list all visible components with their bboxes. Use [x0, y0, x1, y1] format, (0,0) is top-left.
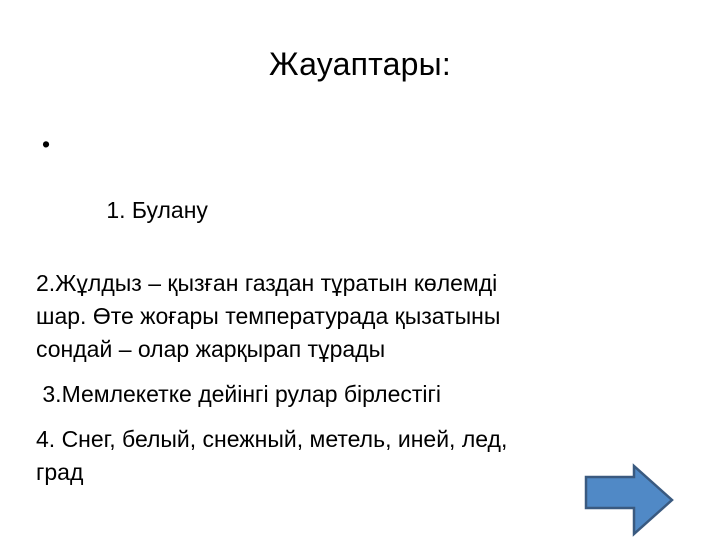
slide-canvas: Жауаптары: • 1. Булану 2.Жұлдыз – қызған… [0, 0, 720, 540]
page-title: Жауаптары: [36, 45, 684, 83]
paragraph-spacer [36, 366, 660, 378]
list-item-continuation: сондай – олар жарқырап тұрады [36, 333, 660, 366]
answers-content: • 1. Булану 2.Жұлдыз – қызған газдан тұр… [36, 128, 660, 489]
right-arrow-icon[interactable] [580, 462, 676, 538]
list-item: 3.Мемлекетке дейінгі рулар бірлестігі [36, 378, 660, 411]
list-item: 2.Жұлдыз – қызған газдан тұратын көлемді [36, 267, 660, 300]
list-item: • 1. Булану [36, 128, 660, 260]
list-item: 4. Снег, белый, снежный, метель, иней, л… [36, 423, 660, 456]
list-item-label: 1. Булану [106, 197, 208, 223]
list-item-continuation: шар. Өте жоғары температурада қызатыны [36, 300, 660, 333]
bullet-icon: • [42, 128, 50, 161]
next-slide-arrow-button[interactable] [580, 462, 676, 538]
paragraph-spacer [36, 411, 660, 423]
list-item-continuation: град [36, 456, 660, 489]
right-arrow-shape[interactable] [586, 466, 672, 534]
